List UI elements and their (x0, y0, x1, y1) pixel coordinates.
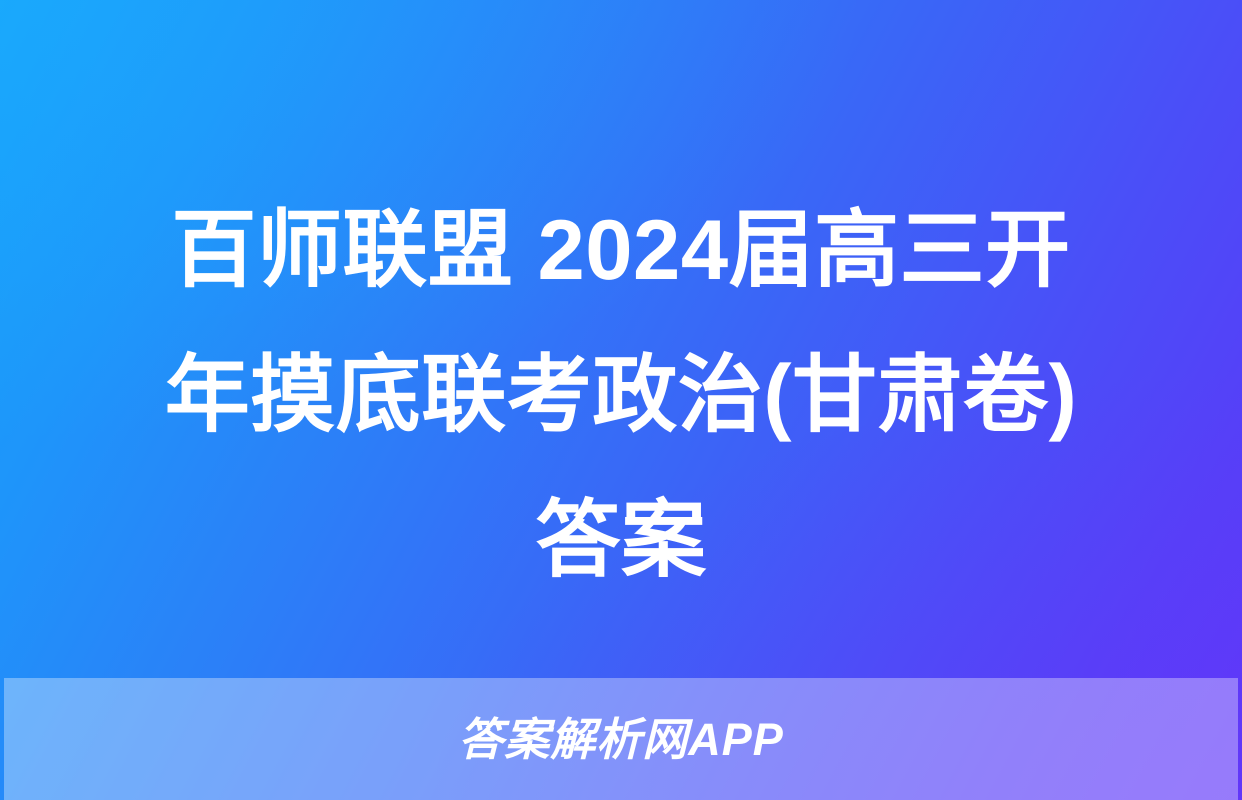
title-line-2: 年摸底联考政治(甘肃卷) (80, 323, 1162, 468)
watermark-label: 答案解析网APP (458, 717, 784, 762)
title-line-1: 百师联盟 2024届高三开 (80, 178, 1162, 323)
watermark-band: 答案解析网APP (4, 678, 1238, 800)
title-line-3: 答案 (80, 468, 1162, 613)
cover-card: 百师联盟 2024届高三开 年摸底联考政治(甘肃卷) 答案 答案解析网APP (0, 0, 1242, 800)
page-title: 百师联盟 2024届高三开 年摸底联考政治(甘肃卷) 答案 (0, 178, 1242, 613)
